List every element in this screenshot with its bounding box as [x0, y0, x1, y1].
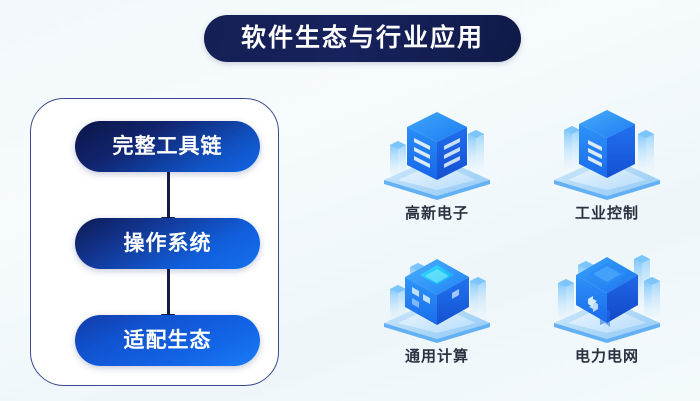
arrow-down-icon	[167, 269, 170, 315]
industry-application-grid: 高新电子	[352, 100, 692, 385]
industry-item-high-tech-electronics[interactable]: 高新电子	[352, 100, 522, 243]
industry-label: 电力电网	[575, 349, 639, 364]
server-tower-icon	[372, 100, 502, 200]
flow-node-operating-system[interactable]: 操作系统	[75, 218, 260, 269]
flow-node-label: 完整工具链	[113, 136, 223, 157]
flow-node-toolchain[interactable]: 完整工具链	[75, 121, 260, 172]
control-cabinet-icon	[542, 100, 672, 200]
industry-item-industrial-control[interactable]: 工业控制	[522, 100, 692, 243]
industry-item-general-computing[interactable]: 通用计算	[352, 243, 522, 386]
slide-title-pill: 软件生态与行业应用	[204, 15, 521, 62]
flow-node-label: 操作系统	[124, 233, 212, 254]
industry-label: 工业控制	[575, 206, 639, 221]
industry-item-power-grid[interactable]: 电力电网	[522, 243, 692, 386]
compute-cube-icon	[372, 243, 502, 343]
industry-label: 高新电子	[405, 206, 469, 221]
arrow-down-icon	[167, 172, 170, 218]
industry-label: 通用计算	[405, 349, 469, 364]
flow-node-label: 适配生态	[124, 330, 212, 351]
power-grid-cube-icon	[542, 243, 672, 343]
slide-canvas: 软件生态与行业应用 完整工具链 操作系统 适配生态	[0, 0, 700, 401]
flow-node-adaptation-ecosystem[interactable]: 适配生态	[75, 315, 260, 366]
flow-diagram-card: 完整工具链 操作系统 适配生态	[30, 98, 279, 386]
page-title: 软件生态与行业应用	[241, 26, 484, 51]
